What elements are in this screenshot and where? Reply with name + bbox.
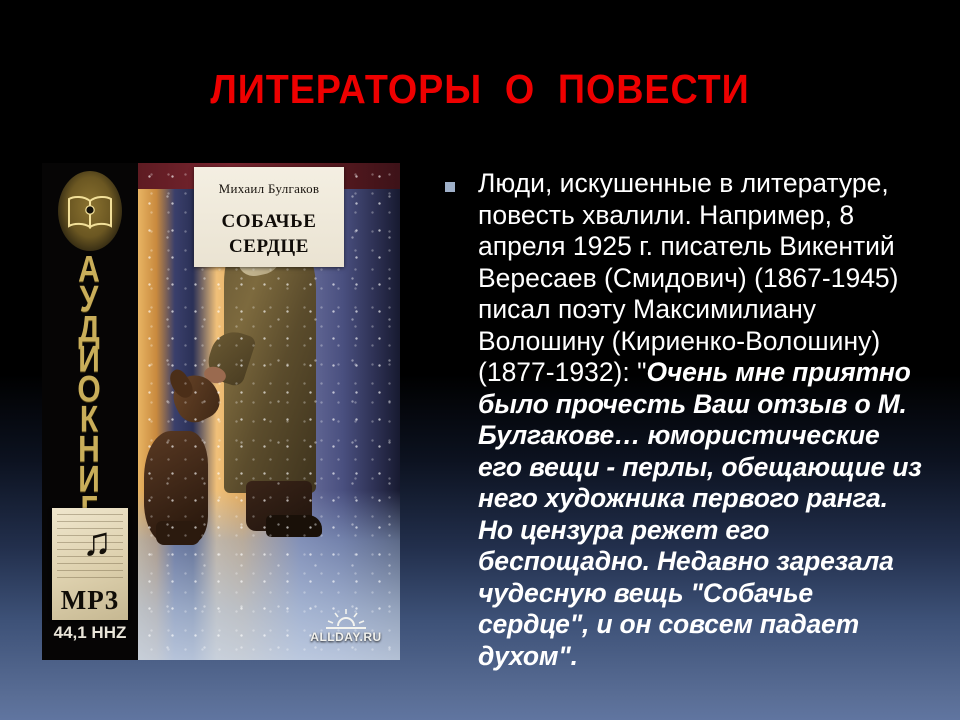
open-book-disc-icon (58, 171, 122, 251)
music-note-icon: ♫ (82, 522, 112, 562)
body-intro-text: Люди, искушенные в литературе, повесть х… (478, 168, 899, 387)
format-label: MP3 (52, 585, 128, 616)
quality-label: 44,1 HHZ (42, 623, 138, 643)
cover-illustration: Михаил Булгаков СОБАЧЬЕ СЕРДЦЕ (138, 163, 400, 660)
body-paragraph: Люди, искушенные в литературе, повесть х… (478, 168, 926, 672)
audiobook-cover-image: АУДИОКНИГА ♫ MP3 44,1 HHZ (42, 163, 400, 660)
cover-title-card: Михаил Булгаков СОБАЧЬЕ СЕРДЦЕ (194, 167, 344, 267)
slide: ЛИТЕРАТОРЫ О ПОВЕСТИ АУДИОКНИГА ♫ MP3 44… (0, 0, 960, 720)
bullet-list: Люди, искушенные в литературе, повесть х… (440, 168, 940, 672)
cover-spine: АУДИОКНИГА ♫ MP3 44,1 HHZ (42, 163, 138, 660)
book-title-line-2: СЕРДЦЕ (194, 236, 344, 258)
open-book-icon (66, 193, 114, 231)
watermark-text: ALLDAY.RU (298, 630, 394, 644)
page-title: ЛИТЕРАТОРЫ О ПОВЕСТИ (38, 66, 921, 113)
spine-label: АУДИОКНИГА (42, 255, 138, 505)
sunrise-icon (298, 608, 394, 630)
body-quote-text: Очень мне приятно было прочесть Ваш отзы… (478, 357, 922, 671)
mp3-badge: ♫ MP3 (52, 508, 128, 620)
book-title-line-1: СОБАЧЬЕ (194, 211, 344, 233)
watermark: ALLDAY.RU (298, 608, 394, 654)
square-bullet-icon (445, 182, 455, 192)
book-author: Михаил Булгаков (194, 181, 344, 197)
